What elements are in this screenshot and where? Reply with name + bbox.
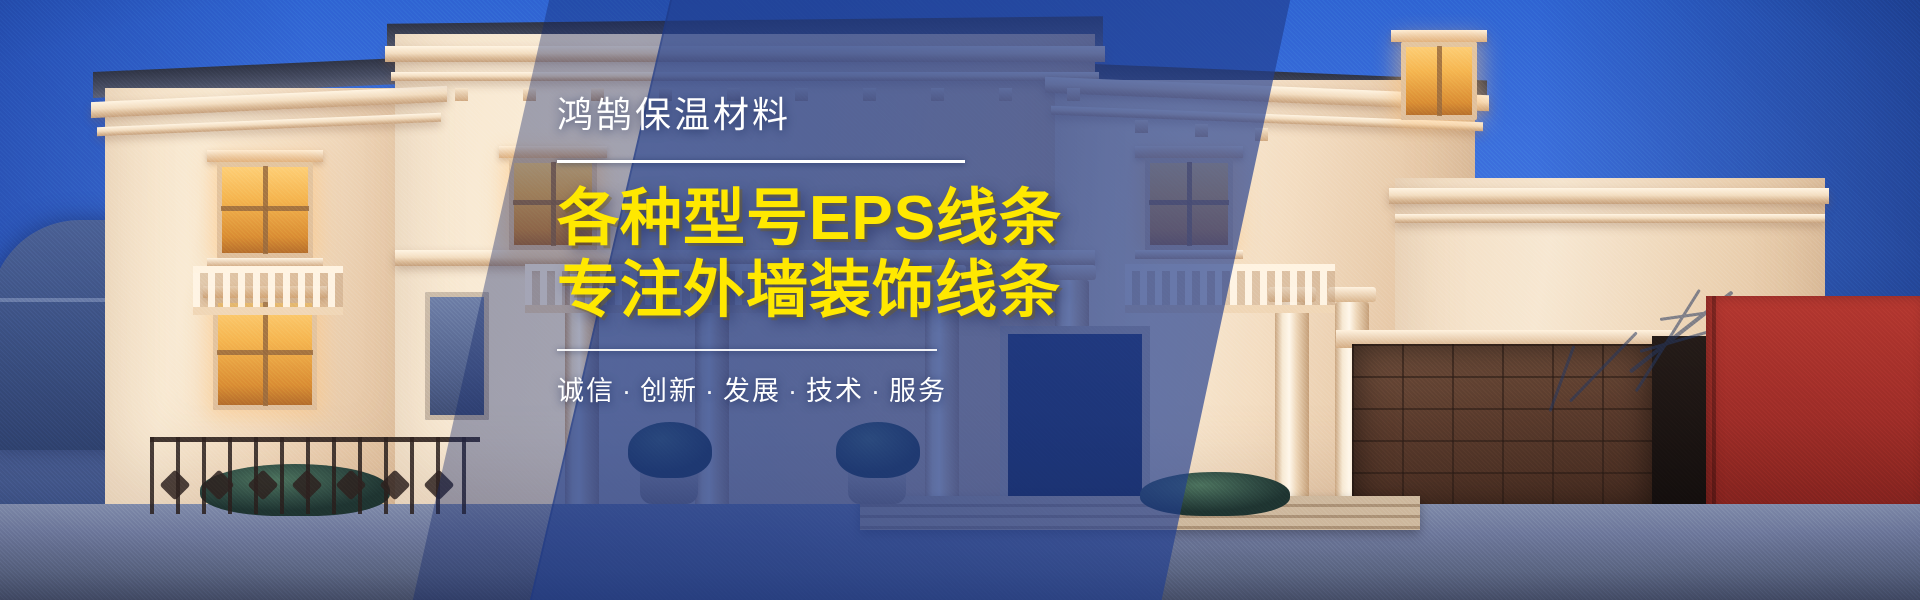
fence-diamond bbox=[335, 469, 366, 500]
tree-branch bbox=[1635, 289, 1701, 392]
dentil bbox=[523, 88, 536, 101]
headline-line-2: 专注外墙装饰线条 bbox=[557, 255, 1257, 327]
fence-diamond bbox=[379, 469, 410, 500]
tagline-separator: · bbox=[864, 376, 889, 406]
divider-rule-top bbox=[557, 160, 965, 163]
tagline-item: 创新 bbox=[640, 376, 698, 406]
fence-diamond bbox=[291, 469, 322, 500]
dentil bbox=[455, 88, 468, 101]
cornice-center-second bbox=[391, 72, 1099, 81]
promo-banner: 鸿鹄保温材料 各种型号EPS线条 专注外墙装饰线条 诚信·创新·发展·技术·服务 bbox=[0, 0, 1920, 600]
banner-copy: 鸿鹄保温材料 各种型号EPS线条 专注外墙装饰线条 诚信·创新·发展·技术·服务 bbox=[557, 96, 1257, 408]
tagline-item: 技术 bbox=[806, 376, 864, 406]
fence-diamond bbox=[247, 469, 278, 500]
tagline-item: 诚信 bbox=[557, 376, 615, 406]
tagline-separator: · bbox=[698, 376, 723, 406]
iron-fence bbox=[150, 437, 480, 514]
window-mullion-horizontal bbox=[217, 350, 313, 355]
tagline-separator: · bbox=[781, 376, 806, 406]
tagline: 诚信·创新·发展·技术·服务 bbox=[557, 369, 1257, 408]
entrance-steps bbox=[860, 496, 1420, 530]
fence-diamond bbox=[203, 469, 234, 500]
window-header bbox=[207, 150, 323, 162]
divider-rule-bottom bbox=[557, 349, 937, 351]
balustrade bbox=[193, 266, 343, 315]
headline-line-1: 各种型号EPS线条 bbox=[557, 183, 1257, 255]
tree-branch bbox=[1569, 331, 1638, 402]
hedge bbox=[1140, 472, 1290, 516]
cornice-center-top bbox=[385, 46, 1105, 62]
window-dim bbox=[425, 292, 489, 420]
fence-diamond bbox=[159, 469, 190, 500]
brand-name: 鸿鹄保温材料 bbox=[557, 96, 1257, 134]
hedge bbox=[628, 422, 712, 478]
fence-diamond bbox=[423, 469, 454, 500]
window-header bbox=[1391, 30, 1487, 42]
tagline-item: 发展 bbox=[723, 376, 781, 406]
tagline-separator: · bbox=[615, 376, 640, 406]
window-mullion-vertical bbox=[1437, 46, 1442, 116]
window-mullion-horizontal bbox=[221, 206, 309, 211]
window-lit bbox=[217, 162, 313, 258]
hedge bbox=[836, 422, 920, 478]
tagline-item: 服务 bbox=[889, 376, 947, 406]
red-container bbox=[1706, 296, 1920, 516]
window-lit bbox=[1401, 42, 1477, 120]
